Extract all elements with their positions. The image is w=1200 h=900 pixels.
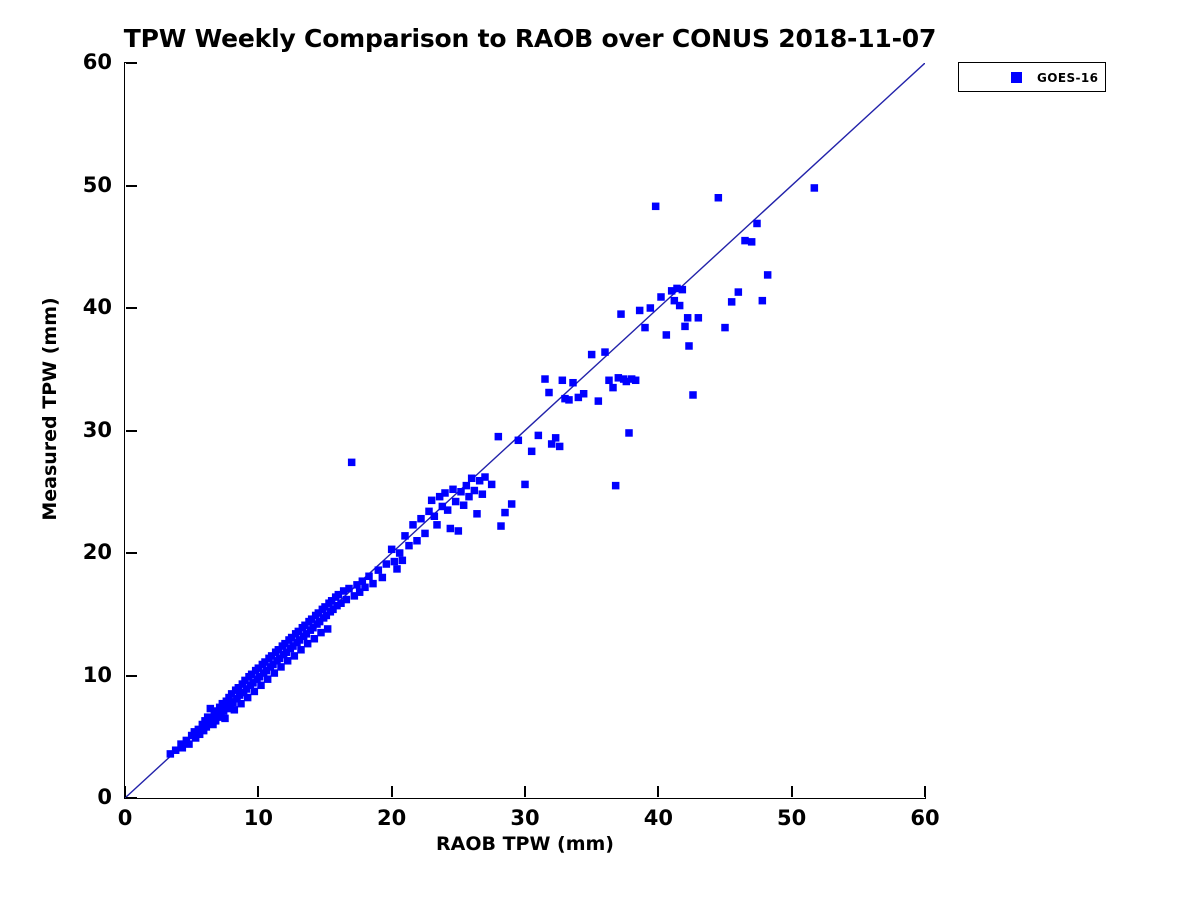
scatter-point [433,521,441,529]
scatter-point [237,700,245,708]
scatter-point [764,271,772,279]
scatter-point [417,515,425,523]
scatter-point [391,558,399,566]
scatter-point [501,509,509,517]
page-title: TPW Weekly Comparison to RAOB over CONUS… [0,24,1060,53]
y-axis-tick [126,797,137,799]
scatter-point [311,635,319,643]
scatter-point [455,527,463,535]
y-axis-tick [126,430,137,432]
scatter-point [612,482,620,490]
scatter-point [681,323,689,331]
y-axis-tick [126,62,137,64]
y-axis-tick [126,675,137,677]
scatter-point [244,694,252,702]
scatter-point [569,379,577,387]
scatter-point [431,513,439,521]
y-axis-tick [126,307,137,309]
scatter-point [625,429,633,437]
scatter-point [185,740,193,748]
scatter-point [552,434,560,442]
y-axis-tick-label: 50 [52,175,112,196]
scatter-point [488,481,496,489]
y-axis-tick-label: 30 [52,420,112,441]
scatter-point [715,194,723,202]
scatter-point [317,629,325,637]
scatter-point [588,351,596,359]
scatter-point [179,744,187,752]
scatter-point [684,314,692,322]
scatter-point [721,324,729,332]
scatter-point [284,657,292,665]
x-axis-tick-label: 30 [495,808,555,829]
scatter-point [421,530,429,538]
scatter-point [361,584,369,592]
scatter-point [257,682,265,690]
scatter-point [735,288,743,296]
scatter-point [545,389,553,397]
scatter-point [383,560,391,568]
scatter-point [388,546,396,554]
x-axis-tick-label: 20 [362,808,422,829]
scatter-point [559,377,567,385]
x-axis-tick [524,786,526,797]
x-axis-tick [924,786,926,797]
x-axis-tick-label: 60 [895,808,955,829]
scatter-point [617,310,625,318]
scatter-point [663,331,671,339]
y-axis-tick-label: 0 [52,787,112,808]
scatter-point [641,324,649,332]
scatter-point [428,497,436,505]
scatter-point [535,432,543,440]
scatter-point [601,348,609,356]
scatter-point [695,314,703,322]
y-axis-tick-label: 60 [52,52,112,73]
scatter-point [291,652,299,660]
scatter-point [409,521,417,529]
scatter-point [595,397,603,405]
scatter-point [348,459,356,467]
x-axis-tick-label: 40 [628,808,688,829]
scatter-point [369,580,377,588]
scatter-point [741,237,749,245]
scatter-point [441,489,449,497]
scatter-point [251,688,259,696]
scatter-point [556,443,564,451]
plot-area [125,63,925,798]
y-axis-tick-label: 10 [52,665,112,686]
scatter-point [528,448,536,456]
scatter-point [759,297,767,305]
legend-label-goes16: GOES-16 [1037,71,1098,85]
x-axis-tick [791,786,793,797]
y-axis-tick [126,185,137,187]
scatter-point [689,391,697,399]
scatter-point [447,525,455,533]
scatter-point [580,390,588,398]
scatter-point [471,487,479,495]
scatter-point [632,377,640,385]
scatter-point [277,663,285,671]
scatter-point [345,585,353,593]
scatter-point [460,501,468,509]
chart-root: TPW Weekly Comparison to RAOB over CONUS… [0,0,1200,900]
x-axis-tick [124,786,126,797]
scatter-point [304,640,312,648]
y-axis-tick-label: 40 [52,297,112,318]
scatter-point [444,506,452,514]
y-axis-tick [126,552,137,554]
scatter-point [399,557,407,565]
scatter-point [728,298,736,306]
scatter-point [343,596,351,604]
scatter-point [473,510,481,518]
scatter-point [497,522,505,530]
scatter-point [365,573,373,581]
scatter-point [379,574,387,582]
scatter-point [479,490,487,498]
scatter-point [393,565,401,573]
scatter-point [521,481,529,489]
x-axis-tick [391,786,393,797]
scatter-point [541,375,549,383]
scatter-point [605,377,613,385]
scatter-point [647,304,655,312]
scatter-point [495,433,503,441]
scatter-point [811,184,819,192]
scatter-point [452,498,460,506]
x-axis-tick-label: 50 [762,808,822,829]
scatter-point [565,396,573,404]
scatter-point [396,549,404,557]
scatter-point [679,286,687,294]
scatter-point [463,482,471,490]
scatter-point [676,302,684,310]
scatter-point [375,566,383,574]
scatter-point [652,203,660,211]
scatter-point [297,646,305,654]
scatter-point [657,293,665,301]
scatter-point [271,669,279,677]
scatter-point [413,537,421,545]
scatter-point [481,473,489,481]
scatter-point [449,486,457,494]
x-axis-label: RAOB TPW (mm) [125,833,925,855]
scatter-point [264,675,272,683]
scatter-markers [167,184,819,757]
y-axis-tick-label: 20 [52,542,112,563]
y-axis-label: Measured TPW (mm) [39,239,61,579]
scatter-point [401,532,409,540]
scatter-canvas [125,63,925,798]
scatter-point [609,384,617,392]
scatter-point [636,307,644,315]
x-axis-tick [257,786,259,797]
x-axis-tick [657,786,659,797]
scatter-point [748,238,756,246]
x-axis-tick-label: 0 [95,808,155,829]
scatter-point [468,475,476,483]
scatter-point [515,437,523,445]
scatter-point [405,542,413,550]
scatter-point [324,625,332,633]
scatter-point [685,342,693,350]
legend-swatch-goes16 [1011,72,1022,83]
scatter-point [221,715,229,723]
legend[interactable]: GOES-16 [958,62,1106,92]
scatter-point [231,706,239,714]
scatter-point [753,220,761,228]
scatter-point [508,500,515,508]
x-axis-tick-label: 10 [228,808,288,829]
